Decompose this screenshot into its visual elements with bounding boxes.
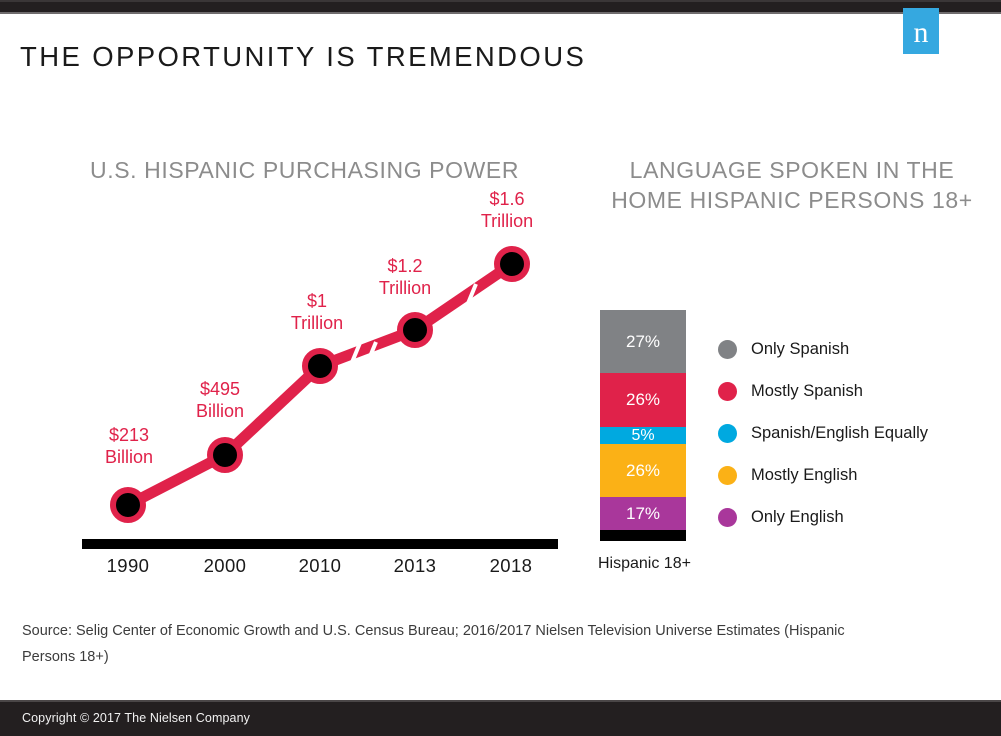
legend-swatch-circle-icon	[718, 466, 737, 485]
page-title: THE OPPORTUNITY IS TREMENDOUS	[20, 41, 586, 73]
data-point-1990	[113, 490, 143, 520]
axis-break-mark-2a	[462, 284, 476, 318]
point-label-1990: $213 Billion	[74, 424, 184, 468]
legend-label-only-spanish: Only Spanish	[751, 340, 849, 359]
legend-item-only-english: Only English	[718, 496, 928, 538]
bar-segment-mostly-spanish-value: 26%	[626, 390, 660, 410]
point-label-2000: $495 Billion	[165, 378, 275, 422]
point-label-1990-line1: $213	[74, 424, 184, 446]
data-point-2013	[400, 315, 430, 345]
legend-label-mostly-english: Mostly English	[751, 466, 857, 485]
x-tick-1990: 1990	[83, 555, 173, 577]
legend-label-spanish-english-equally: Spanish/English Equally	[751, 424, 928, 443]
data-point-2000	[210, 440, 240, 470]
stacked-bar-title: LANGUAGE SPOKEN IN THE HOME HISPANIC PER…	[596, 155, 988, 215]
bar-segment-mostly-spanish: 26%	[600, 373, 686, 427]
footer-bar: Copyright © 2017 The Nielsen Company	[0, 700, 1001, 736]
data-point-2018	[497, 249, 527, 279]
x-tick-2013: 2013	[370, 555, 460, 577]
point-label-2013: $1.2 Trillion	[350, 255, 460, 299]
legend-swatch-circle-icon	[718, 340, 737, 359]
axis-break-mark-1b	[362, 342, 376, 376]
point-label-2018: $1.6 Trillion	[452, 188, 562, 232]
line-chart-title: U.S. HISPANIC PURCHASING POWER	[90, 155, 519, 185]
nielsen-logo-letter: n	[903, 8, 939, 54]
legend-swatch-circle-icon	[718, 424, 737, 443]
point-label-2013-line1: $1.2	[350, 255, 460, 277]
legend-label-mostly-spanish: Mostly Spanish	[751, 382, 863, 401]
x-tick-2018: 2018	[466, 555, 556, 577]
bar-segment-mostly-english-value: 26%	[626, 461, 660, 481]
point-label-2018-line1: $1.6	[452, 188, 562, 210]
data-point-2010	[305, 351, 335, 381]
copyright-text: Copyright © 2017 The Nielsen Company	[22, 711, 250, 725]
stacked-bar: 27% 26% 5% 26% 17%	[600, 310, 686, 530]
bar-segment-spanish-english-equally-value: 5%	[631, 427, 654, 445]
point-label-2000-line2: Billion	[165, 400, 275, 422]
x-tick-2000: 2000	[180, 555, 270, 577]
legend-item-mostly-spanish: Mostly Spanish	[718, 370, 928, 412]
bar-segment-only-spanish-value: 27%	[626, 332, 660, 352]
point-label-1990-line2: Billion	[74, 446, 184, 468]
nielsen-logo: n	[903, 8, 939, 54]
legend-swatch-circle-icon	[718, 508, 737, 527]
bar-segment-only-spanish: 27%	[600, 310, 686, 373]
legend-label-only-english: Only English	[751, 508, 844, 527]
legend-item-spanish-english-equally: Spanish/English Equally	[718, 412, 928, 454]
line-segment-2010-2013	[320, 330, 415, 366]
point-label-2010-line2: Trillion	[262, 312, 372, 334]
bar-base-line	[600, 530, 686, 541]
axis-break-mark-1a	[348, 338, 362, 372]
legend-item-only-spanish: Only Spanish	[718, 328, 928, 370]
bar-segment-only-english: 17%	[600, 497, 686, 530]
source-note: Source: Selig Center of Economic Growth …	[22, 618, 872, 670]
legend-item-mostly-english: Mostly English	[718, 454, 928, 496]
bar-category-label: Hispanic 18+	[598, 555, 691, 573]
point-label-2013-line2: Trillion	[350, 277, 460, 299]
top-header-bar	[0, 0, 1001, 14]
bar-segment-mostly-english: 26%	[600, 444, 686, 497]
legend: Only Spanish Mostly Spanish Spanish/Engl…	[718, 328, 928, 538]
x-tick-2010: 2010	[275, 555, 365, 577]
point-label-2018-line2: Trillion	[452, 210, 562, 232]
bar-segment-only-english-value: 17%	[626, 504, 660, 524]
axis-break-mark-2b	[476, 288, 490, 322]
bar-segment-spanish-english-equally: 5%	[600, 427, 686, 444]
x-axis-bar	[82, 539, 558, 549]
legend-swatch-circle-icon	[718, 382, 737, 401]
point-label-2000-line1: $495	[165, 378, 275, 400]
